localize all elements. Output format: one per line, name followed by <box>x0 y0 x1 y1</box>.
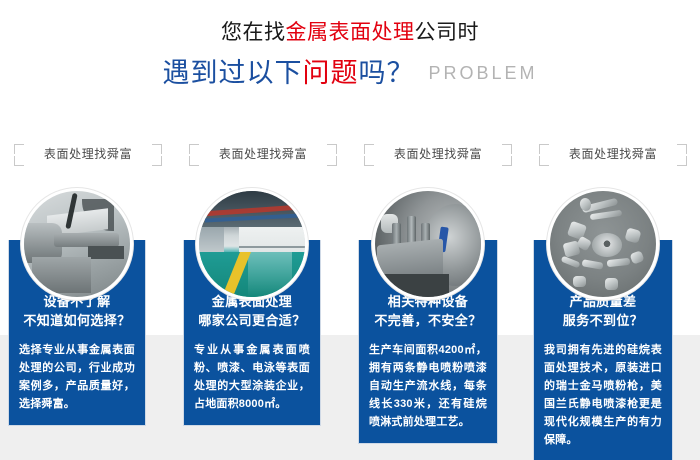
card-1-photo <box>21 188 133 300</box>
card-1-heading-line-2: 不知道如何选择？ <box>19 311 135 330</box>
title-line2-highlight: 问题 <box>302 58 358 88</box>
card-1-body-text: 选择专业从事金属表面处理的公司，行业成功案例多，产品质量好，选择舜富。 <box>19 341 135 413</box>
card-4-body-text: 我司拥有先进的硅烷表面处理技术，原装进口的瑞士金马喷粉枪，美国兰氏静电喷漆枪更是… <box>544 341 662 449</box>
title-line2-part2: 吗？ <box>358 58 414 88</box>
page-title: 您在找金属表面处理公司时 遇到过以下问题吗？PROBLEM <box>0 18 700 90</box>
card-4-bracket-label: 表面处理找舜富 <box>539 140 687 168</box>
card-3-heading-line-2: 不完善，不安全？ <box>369 311 487 330</box>
title-english-label: PROBLEM <box>428 63 537 83</box>
card-2-photo <box>196 188 308 300</box>
card-3-label-text: 表面处理找舜富 <box>364 145 512 163</box>
card-3-photo <box>372 188 484 300</box>
fasteners-photo <box>550 191 656 297</box>
card-1-label-text: 表面处理找舜富 <box>14 145 162 163</box>
title-line1-suffix: 公司时 <box>415 21 480 44</box>
card-3-bracket-label: 表面处理找舜富 <box>364 140 512 168</box>
problem-card-2[interactable]: 表面处理找舜富 金属表面处理 哪家公司更合适？ 专业从事金属表面喷粉、喷漆、电泳… <box>183 140 343 168</box>
title-line-2: 遇到过以下问题吗？PROBLEM <box>0 56 700 90</box>
card-4-label-text: 表面处理找舜富 <box>539 145 687 163</box>
promo-banner: 您在找金属表面处理公司时 遇到过以下问题吗？PROBLEM 表面处理找舜富 设备… <box>0 0 700 460</box>
problem-card-4[interactable]: 表面处理找舜富 产品质量差 服务不到位？ 我司拥有先进的硅烷表面处理技术，原装进… <box>533 140 693 168</box>
card-2-label-text: 表面处理找舜富 <box>189 145 337 163</box>
lathe-machining-photo <box>24 191 130 297</box>
card-2-bracket-label: 表面处理找舜富 <box>189 140 337 168</box>
problem-card-3[interactable]: 表面处理找舜富 相关特种设备 不完善，不安全？ 生产车间面积4200㎡，拥有两条… <box>358 140 518 168</box>
card-3-body-text: 生产车间面积4200㎡，拥有两条静电喷粉喷漆自动生产流水线，每条线长330米，还… <box>369 341 487 431</box>
title-line1-prefix: 您在找 <box>221 21 286 44</box>
title-line1-highlight: 金属表面处理 <box>286 21 415 44</box>
title-line2-part1: 遇到过以下 <box>162 58 302 88</box>
workshop-corridor-photo <box>199 191 305 297</box>
bolts-grinder-photo <box>375 191 481 297</box>
problem-card-1[interactable]: 表面处理找舜富 设备不了解 不知道如何选择？ 选择专业从事金属表面处理的公司，行… <box>8 140 168 168</box>
card-2-heading-line-2: 哪家公司更合适？ <box>194 311 310 330</box>
card-4-heading-line-2: 服务不到位？ <box>544 311 662 330</box>
card-2-body-text: 专业从事金属表面喷粉、喷漆、电泳等表面处理的大型涂装企业，占地面积8000㎡。 <box>194 341 310 413</box>
title-line-1: 您在找金属表面处理公司时 <box>0 18 700 48</box>
card-4-photo <box>547 188 659 300</box>
card-1-bracket-label: 表面处理找舜富 <box>14 140 162 168</box>
